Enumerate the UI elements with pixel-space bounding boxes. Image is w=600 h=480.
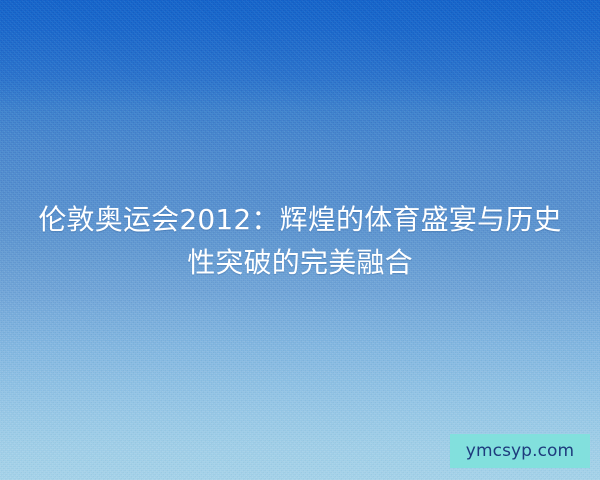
banner-headline: 伦敦奥运会2012：辉煌的体育盛宴与历史性突破的完美融合 bbox=[0, 198, 600, 284]
watermark-badge: ymcsyp.com bbox=[450, 434, 590, 468]
banner-image: 伦敦奥运会2012：辉煌的体育盛宴与历史性突破的完美融合 ymcsyp.com bbox=[0, 0, 600, 480]
watermark-label: ymcsyp.com bbox=[466, 443, 574, 460]
